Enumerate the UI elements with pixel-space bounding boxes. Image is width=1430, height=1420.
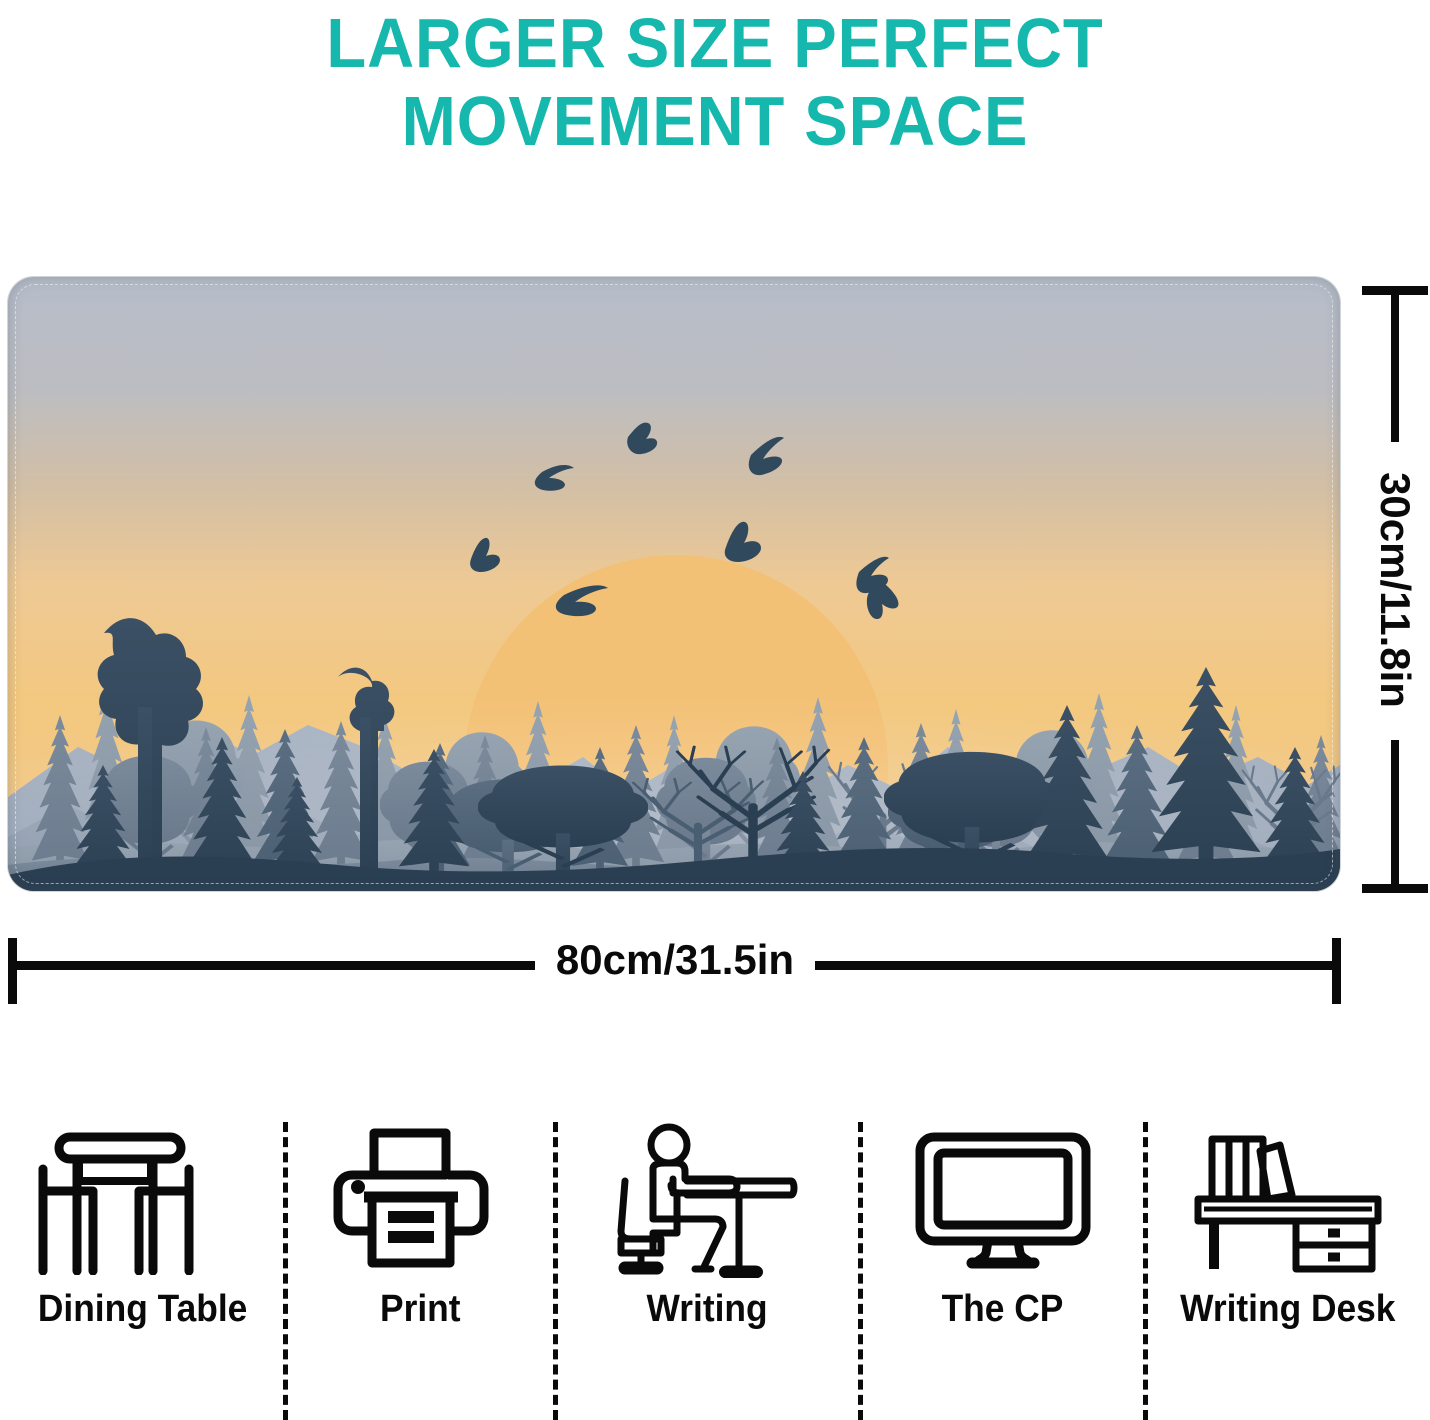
page-title-line-2: MOVEMENT SPACE (50, 82, 1380, 160)
height-dimension-text: 30cm/11.8in (1371, 472, 1419, 708)
width-dimension-left-cap (8, 938, 17, 1004)
use-case-label: The CP (942, 1288, 1064, 1331)
page-title-line-1: LARGER SIZE PERFECT (50, 4, 1380, 82)
mouse-pad-surface (8, 277, 1340, 891)
width-dimension-label: 80cm/31.5in (535, 936, 815, 984)
use-case-dining-table: Dining Table (0, 1120, 285, 1420)
width-dimension-left-stem (13, 961, 535, 970)
use-case-writing: Writing (555, 1120, 860, 1420)
height-dimension-bottom-cap (1362, 884, 1428, 893)
printer-icon (330, 1120, 510, 1280)
use-case-writing-desk: Writing Desk (1145, 1120, 1430, 1420)
use-case-print: Print (285, 1120, 555, 1420)
monitor-icon (914, 1120, 1092, 1280)
width-dimension-right-cap (1332, 938, 1341, 1004)
use-case-label: Print (380, 1288, 461, 1331)
person-writing-at-desk-icon (615, 1120, 800, 1280)
writing-desk-icon (1188, 1120, 1388, 1280)
page-title: LARGER SIZE PERFECT MOVEMENT SPACE (0, 0, 1430, 160)
mouse-pad-product-image (8, 277, 1340, 891)
use-case-label: Dining Table (38, 1288, 247, 1331)
forest-sunset-artwork (8, 277, 1340, 891)
use-case-strip: Dining Table Print (0, 1120, 1430, 1420)
dining-table-icon (33, 1120, 253, 1280)
height-dimension-label: 30cm/11.8in (1355, 440, 1430, 740)
width-dimension-right-stem (815, 961, 1336, 970)
use-case-label: Writing Desk (1180, 1288, 1395, 1331)
use-case-label: Writing (647, 1288, 768, 1331)
use-case-the-cp: The CP (860, 1120, 1145, 1420)
height-dimension-upper-stem (1391, 291, 1399, 442)
height-dimension-lower-stem (1391, 740, 1399, 890)
